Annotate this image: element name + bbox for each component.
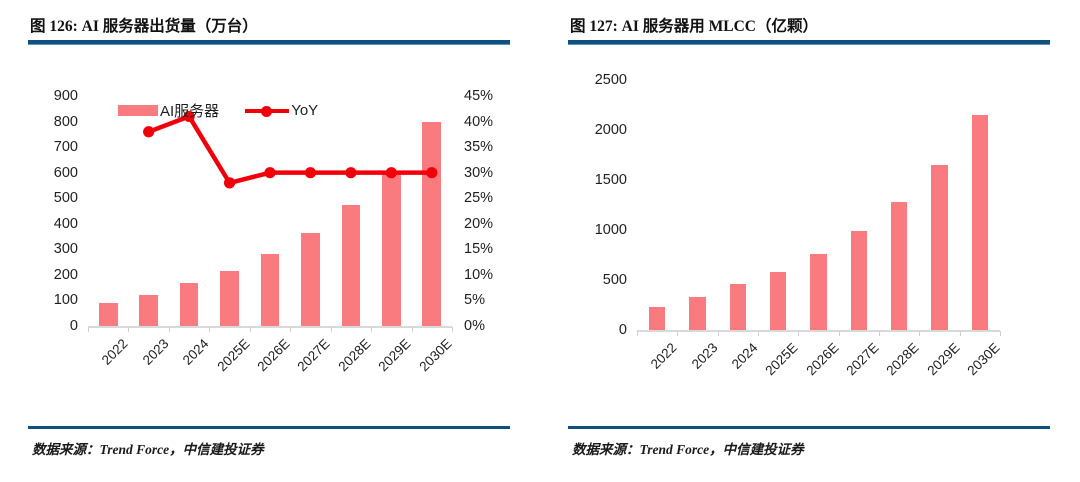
bar bbox=[220, 271, 239, 326]
x-axis-tick bbox=[128, 327, 129, 332]
bar bbox=[810, 254, 826, 331]
y-axis-tick-label: 700 bbox=[54, 140, 78, 155]
y-axis-tick-label: 500 bbox=[603, 273, 627, 288]
y-axis-tick-label: 1500 bbox=[595, 173, 627, 188]
y2-axis-tick-label: 35% bbox=[464, 140, 493, 155]
y2-axis-tick-label: 30% bbox=[464, 165, 493, 180]
y2-axis-tick-label: 45% bbox=[464, 89, 493, 104]
bar bbox=[422, 122, 441, 326]
legend-line-swatch-icon bbox=[245, 105, 289, 117]
y-axis-tick-label: 0 bbox=[619, 323, 627, 338]
x-axis-tick bbox=[88, 327, 89, 332]
bar bbox=[689, 297, 705, 330]
x-axis-tick bbox=[169, 327, 170, 332]
bar bbox=[972, 115, 988, 330]
source-note-126: 数据来源：Trend Force，中信建投证券 bbox=[32, 438, 264, 458]
yoy-data-point bbox=[143, 126, 154, 137]
x-axis-tick bbox=[290, 327, 291, 332]
y-axis-tick-label: 600 bbox=[54, 165, 78, 180]
y-axis-tick-label: 2000 bbox=[595, 123, 627, 138]
yoy-data-point bbox=[264, 167, 275, 178]
y-axis-tick-label: 400 bbox=[54, 217, 78, 232]
x-axis-tick bbox=[412, 327, 413, 332]
chart-126: 01002003004005006007008009000%5%10%15%20… bbox=[0, 0, 540, 400]
yoy-line-series bbox=[0, 0, 540, 400]
x-axis-tick bbox=[331, 327, 332, 332]
x-axis-tick bbox=[960, 331, 961, 336]
y-axis-tick-label: 500 bbox=[54, 191, 78, 206]
x-axis-tick bbox=[209, 327, 210, 332]
yoy-data-point bbox=[224, 177, 235, 188]
yoy-data-point bbox=[345, 167, 356, 178]
bar bbox=[931, 165, 947, 330]
y-axis-tick-label: 100 bbox=[54, 293, 78, 308]
legend-bar-label: AI服务器 bbox=[160, 100, 219, 121]
x-axis-tick bbox=[452, 327, 453, 332]
y-axis-tick-label: 2500 bbox=[595, 73, 627, 88]
x-axis-tick bbox=[677, 331, 678, 336]
y2-axis-tick-label: 40% bbox=[464, 114, 493, 129]
y2-axis-tick-label: 25% bbox=[464, 191, 493, 206]
legend-line-label: YoY bbox=[291, 102, 318, 119]
y2-axis-tick-label: 10% bbox=[464, 268, 493, 283]
bar bbox=[730, 284, 746, 331]
footer-rule-left bbox=[28, 426, 510, 429]
figure-page: 图 126: AI 服务器出货量（万台） 0100200300400500600… bbox=[0, 0, 1080, 482]
legend-item-bar: AI服务器 bbox=[118, 100, 219, 121]
y-axis-tick-label: 200 bbox=[54, 268, 78, 283]
x-axis-line bbox=[88, 326, 452, 328]
legend-item-line: YoY bbox=[245, 102, 318, 119]
bar bbox=[261, 254, 280, 326]
bar bbox=[382, 171, 401, 326]
bar bbox=[301, 233, 320, 326]
y-axis-tick-label: 0 bbox=[70, 319, 78, 334]
bar bbox=[851, 231, 867, 330]
y2-axis-tick-label: 15% bbox=[464, 242, 493, 257]
bar bbox=[891, 202, 907, 330]
y2-axis-tick-label: 20% bbox=[464, 217, 493, 232]
x-axis-tick bbox=[839, 331, 840, 336]
x-axis-line bbox=[637, 330, 1000, 332]
y-axis-tick-label: 900 bbox=[54, 89, 78, 104]
chart-legend: AI服务器YoY bbox=[118, 100, 318, 121]
y-axis-tick-label: 300 bbox=[54, 242, 78, 257]
y2-axis-tick-label: 0% bbox=[464, 319, 485, 334]
yoy-data-point bbox=[305, 167, 316, 178]
bar bbox=[342, 205, 361, 326]
x-axis-tick bbox=[371, 327, 372, 332]
legend-bar-swatch-icon bbox=[118, 105, 158, 116]
x-axis-tick bbox=[718, 331, 719, 336]
source-note-127: 数据来源：Trend Force，中信建投证券 bbox=[572, 438, 804, 458]
bar bbox=[99, 303, 118, 326]
y2-axis-tick-label: 5% bbox=[464, 293, 485, 308]
x-axis-tick bbox=[250, 327, 251, 332]
figure-panel-127: 图 127: AI 服务器用 MLCC（亿颗） 0500100015002000… bbox=[540, 0, 1080, 482]
bar bbox=[770, 272, 786, 330]
x-axis-tick bbox=[637, 331, 638, 336]
y-axis-tick-label: 800 bbox=[54, 114, 78, 129]
x-axis-tick bbox=[758, 331, 759, 336]
x-axis-tick bbox=[919, 331, 920, 336]
y-axis-tick-label: 1000 bbox=[595, 223, 627, 238]
footer-rule-right bbox=[568, 426, 1050, 429]
bar bbox=[649, 307, 665, 331]
x-axis-tick bbox=[798, 331, 799, 336]
bar bbox=[180, 283, 199, 326]
bar bbox=[139, 295, 158, 326]
figure-panel-126: 图 126: AI 服务器出货量（万台） 0100200300400500600… bbox=[0, 0, 540, 482]
x-axis-tick bbox=[1000, 331, 1001, 336]
chart-127: 050010001500200025002022202320242025E202… bbox=[540, 0, 1080, 400]
x-axis-tick bbox=[879, 331, 880, 336]
